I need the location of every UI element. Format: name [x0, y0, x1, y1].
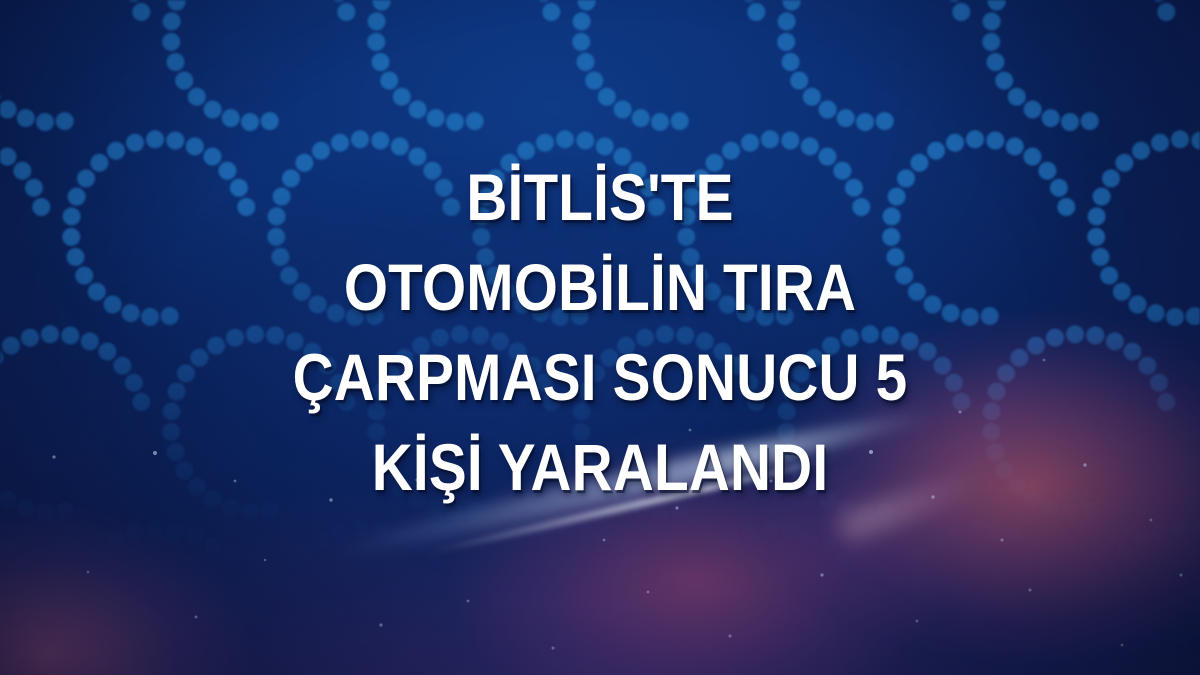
headline-line-4: KİŞİ YARALANDI [108, 422, 1092, 512]
headline-line-2: OTOMOBİLİN TIRA [108, 242, 1092, 332]
headline-block: BİTLİS'TE OTOMOBİLİN TIRA ÇARPMASI SONUC… [0, 152, 1200, 512]
news-banner: BİTLİS'TE OTOMOBİLİN TIRA ÇARPMASI SONUC… [0, 0, 1200, 675]
headline-line-3: ÇARPMASI SONUCU 5 [108, 332, 1092, 422]
headline-line-1: BİTLİS'TE [108, 152, 1092, 242]
